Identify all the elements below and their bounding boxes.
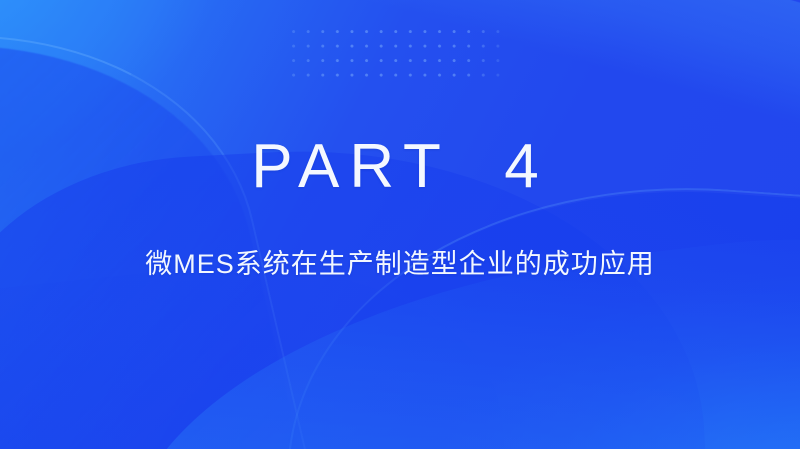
slide-subtitle: 微MES系统在生产制造型企业的成功应用	[145, 248, 655, 280]
slide-content: PART 4 微MES系统在生产制造型企业的成功应用	[0, 0, 800, 449]
slide-canvas: PART 4 微MES系统在生产制造型企业的成功应用	[0, 0, 800, 449]
page-title: PART 4	[251, 136, 548, 198]
